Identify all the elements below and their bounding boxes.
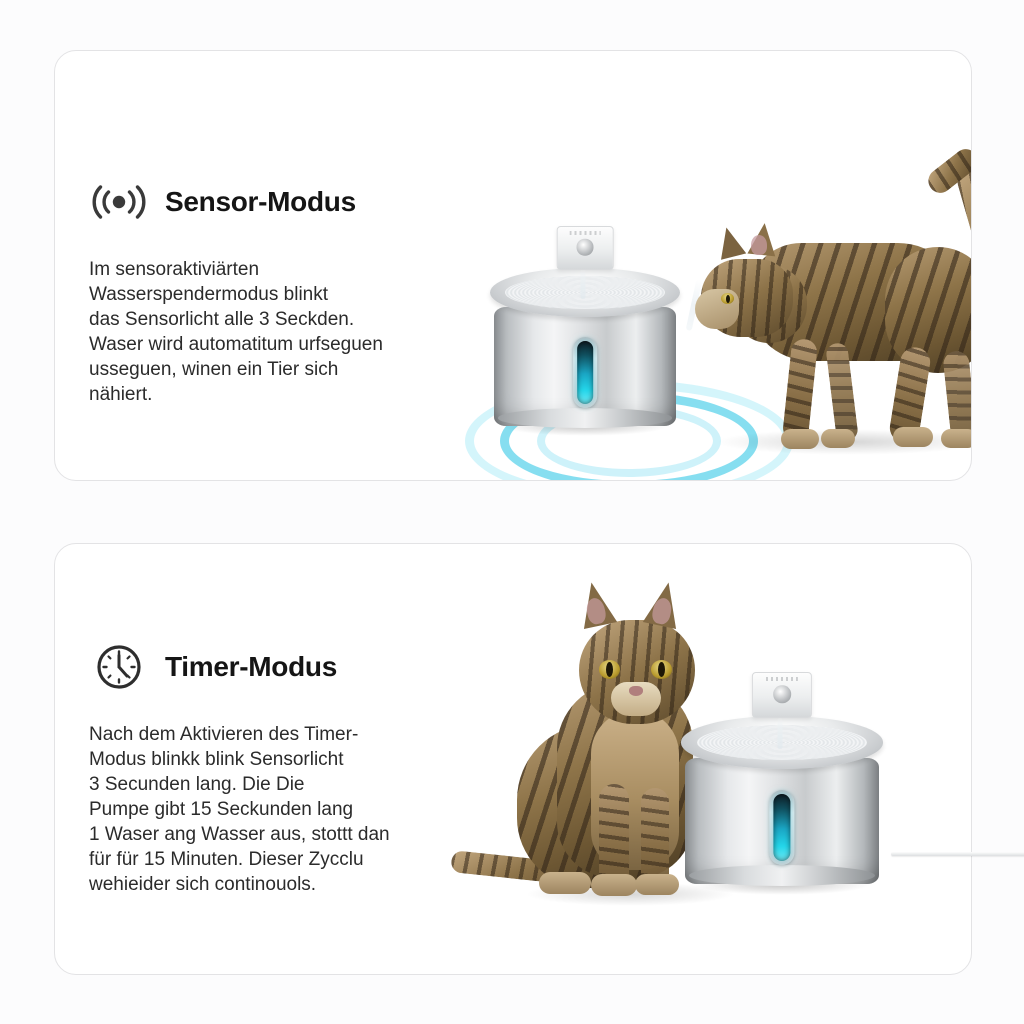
device-shadow [693, 874, 871, 895]
cat-front-leg-near [599, 784, 629, 890]
sensor-mode-heading-row: Sensor-Modus [89, 179, 419, 225]
led-glow [577, 341, 593, 404]
cat-paw [591, 874, 637, 896]
timer-mode-title: Timer-Modus [165, 651, 337, 683]
sensor-lens-icon [773, 686, 790, 704]
cat-paw [941, 429, 971, 448]
tabby-cat-sitting [495, 574, 755, 904]
water-fountain-device [494, 261, 676, 426]
cat-ear-right-icon [643, 579, 685, 629]
ripple-ring-middle [500, 392, 758, 480]
sensor-lens-icon [577, 239, 593, 256]
cat-tail [955, 166, 971, 319]
cat-ear-left-icon [575, 579, 617, 629]
cat-paw [781, 429, 819, 449]
cat-nose-icon [629, 686, 643, 696]
sensor-pump-module [752, 672, 812, 718]
cat-ear-inner [751, 235, 767, 255]
fountain-base [498, 408, 673, 428]
water-stream [581, 269, 586, 299]
cat-eye-right [651, 660, 672, 679]
drinking-water-stream [686, 279, 703, 331]
timer-mode-heading-row: Timer-Modus [89, 644, 419, 690]
cat-front-leg-near [782, 338, 819, 442]
timer-mode-body: Nach dem Aktivieren des Timer- Modus bli… [89, 722, 419, 897]
cat-tail-tip [924, 144, 971, 197]
fountain-lid [490, 268, 679, 318]
water-level-led-window [769, 790, 794, 865]
cat-ear-inner [584, 596, 607, 625]
sensor-mode-body: Im sensoraktiviärten Wasserspendermodus … [89, 257, 419, 407]
sensor-pump-module [557, 226, 614, 269]
cat-body [747, 243, 965, 361]
cat-ear-left-icon [714, 224, 746, 259]
cat-front-leg-far [825, 342, 859, 442]
timer-mode-text-column: Timer-Modus Nach dem Aktivieren des Time… [89, 644, 419, 897]
cat-pupil-left [606, 662, 613, 677]
signal-waves-icon [89, 179, 149, 225]
cat-head [579, 620, 695, 724]
sensor-ripple-rings [459, 381, 799, 480]
product-feature-infographic: Sensor-Modus Im sensoraktiviärten Wasser… [0, 0, 1024, 1024]
cat-paw [893, 427, 933, 447]
cat-eye [721, 293, 734, 304]
water-stream [778, 718, 783, 750]
cat-ear-inner [650, 596, 673, 625]
pump-vents [766, 677, 799, 681]
led-glow [773, 794, 790, 861]
cat-body [557, 682, 693, 878]
cat-haunch [885, 247, 971, 373]
cat-head [701, 259, 793, 337]
pump-vents [570, 231, 601, 235]
ripple-ring-inner [537, 405, 721, 477]
cat-eye-left [599, 660, 620, 679]
fountain-water-surface [505, 276, 665, 309]
cat-hind-leg-near [888, 345, 933, 445]
sensor-mode-title: Sensor-Modus [165, 186, 356, 218]
cat-pupil [726, 295, 730, 303]
cat-paw [821, 429, 855, 448]
tabby-cat-walking [695, 161, 971, 451]
cat-rear-paw [539, 872, 591, 894]
cat-muzzle [695, 289, 739, 329]
timer-mode-card: Timer-Modus Nach dem Aktivieren des Time… [54, 543, 972, 975]
water-level-led-window [573, 337, 597, 408]
water-fountain-device [685, 709, 879, 884]
cat-muzzle [611, 682, 661, 716]
sensor-mode-card: Sensor-Modus Im sensoraktiviärten Wasser… [54, 50, 972, 481]
cat-neck [731, 265, 807, 343]
cat-shadow [715, 429, 971, 455]
cat-shadow [525, 882, 735, 906]
cat-pupil-right [658, 662, 665, 677]
cat-haunch [517, 724, 667, 888]
fountain-lid [681, 716, 883, 769]
fountain-water-surface [697, 725, 868, 760]
cat-hind-leg-far [942, 350, 971, 446]
device-shadow [501, 416, 668, 436]
sensor-mode-text-column: Sensor-Modus Im sensoraktiviärten Wasser… [89, 179, 419, 407]
cat-front-leg-far [641, 788, 669, 890]
cat-ear-right-icon [747, 222, 778, 257]
ripple-ring-outer [465, 380, 793, 480]
cat-paw [635, 874, 679, 895]
cat-tail [450, 850, 603, 888]
fountain-body [685, 758, 879, 884]
fountain-body [494, 307, 676, 426]
fountain-base [689, 865, 875, 886]
clock-icon [89, 644, 149, 690]
cat-chest [591, 710, 679, 870]
